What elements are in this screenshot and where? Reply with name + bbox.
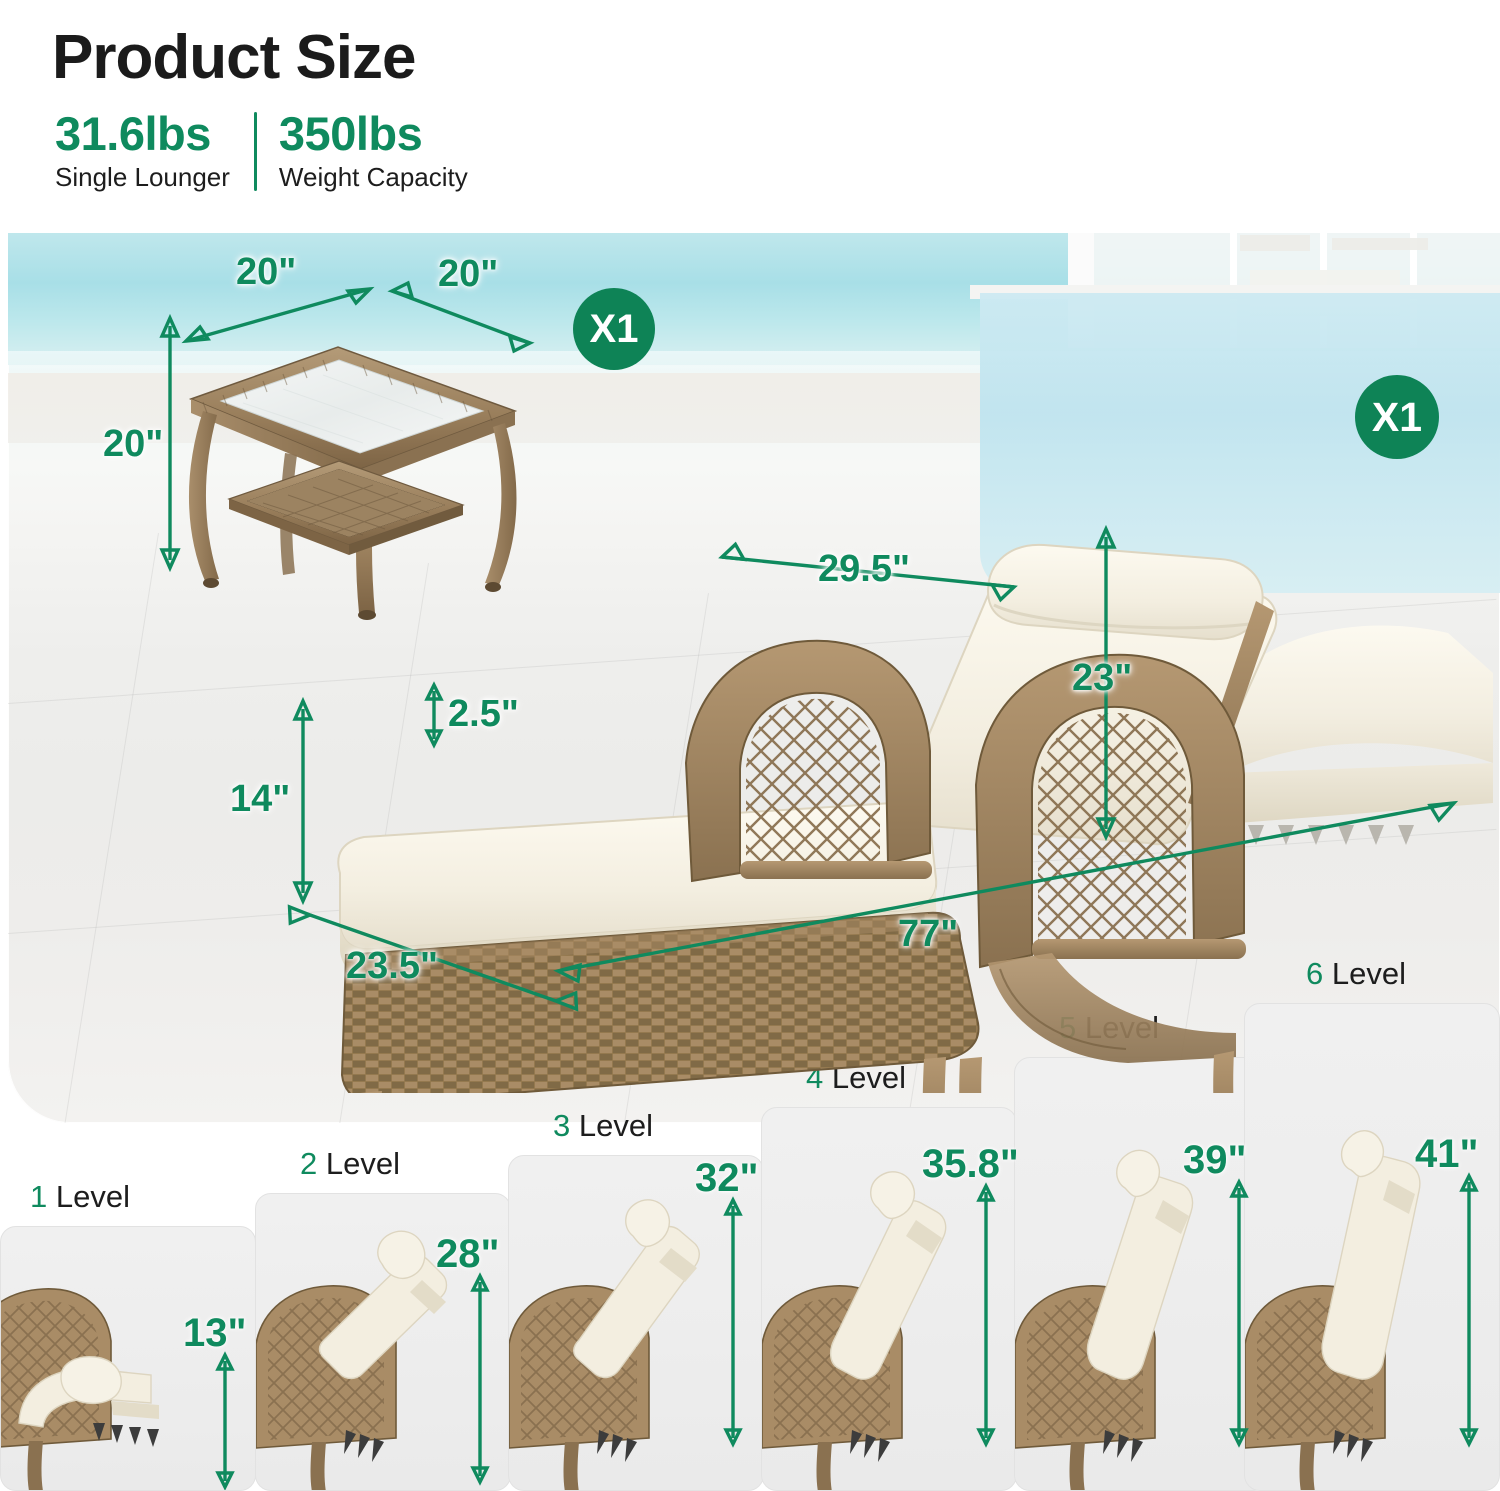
dim-label-overall-length: 77" [898,913,958,956]
recline-levels-row: 1 Level [0,1126,1500,1491]
dim-arrow-cushion-thickness [423,685,445,745]
quantity-badge-lounger: X1 [1355,375,1439,459]
dim-label-seat-height: 14" [230,778,290,821]
level-card-5: 39" [1014,1057,1270,1491]
level-height-label-6: 41" [1415,1132,1478,1177]
level-caption-2: 2 Level [300,1146,400,1182]
dim-label-table-depth: 20" [438,253,498,296]
infographic-root: 20" 20" 20" 29.5" 23" [0,0,1500,1491]
header-card: Product Size 31.6lbs Single Lounger 350l… [0,0,662,222]
level-card-4: 35.8" [761,1107,1017,1491]
level-card-2: 28" [255,1193,511,1491]
stats-row: 31.6lbs Single Lounger 350lbs Weight Cap… [55,110,468,193]
level-height-arrow-5 [1229,1182,1249,1444]
dim-label-seat-depth: 23.5" [346,945,438,988]
dim-label-table-width: 20" [236,251,296,294]
level-number-1: 1 [30,1179,47,1214]
level-height-label-4: 35.8" [922,1142,1017,1187]
stat-capacity-caption: Weight Capacity [279,162,468,193]
level-height-label-1: 13" [183,1311,246,1356]
stat-weight: 31.6lbs Single Lounger [55,110,230,193]
level-height-arrow-1 [215,1355,235,1487]
level-height-label-2: 28" [436,1232,499,1277]
dim-arrow-seat-height [291,701,315,901]
stat-weight-caption: Single Lounger [55,162,230,193]
level-height-arrow-2 [470,1276,490,1482]
level-height-label-3: 32" [695,1156,758,1201]
level-card-1: 13" [0,1226,256,1491]
level-height-arrow-3 [723,1200,743,1444]
level-height-arrow-6 [1459,1176,1479,1444]
level-caption-3: 3 Level [553,1108,653,1144]
dim-arrow-overall-length [548,781,1468,981]
stat-weight-value: 31.6lbs [55,110,230,158]
quantity-badge-table: X1 [573,288,655,370]
level-card-3: 32" [508,1155,764,1491]
stat-capacity-value: 350lbs [279,110,468,158]
dim-label-lounger-width: 29.5" [818,548,910,591]
page-title: Product Size [52,22,416,93]
dim-label-arm-height: 23" [1072,657,1132,700]
stat-capacity: 350lbs Weight Capacity [279,110,468,193]
level-suffix-1: Level [56,1179,130,1214]
level-height-arrow-4 [976,1186,996,1444]
level-number-3: 3 [553,1108,570,1143]
dim-label-table-height: 20" [103,423,163,466]
level-number-2: 2 [300,1146,317,1181]
level-suffix-2: Level [326,1146,400,1181]
product-scene-panel: 20" 20" 20" 29.5" 23" [8,233,1500,1123]
dim-label-cushion-thickness: 2.5" [448,693,519,736]
level-caption-1: 1 Level [30,1179,130,1215]
stats-divider [254,112,257,191]
level-suffix-3: Level [579,1108,653,1143]
level-height-label-5: 39" [1183,1138,1246,1183]
